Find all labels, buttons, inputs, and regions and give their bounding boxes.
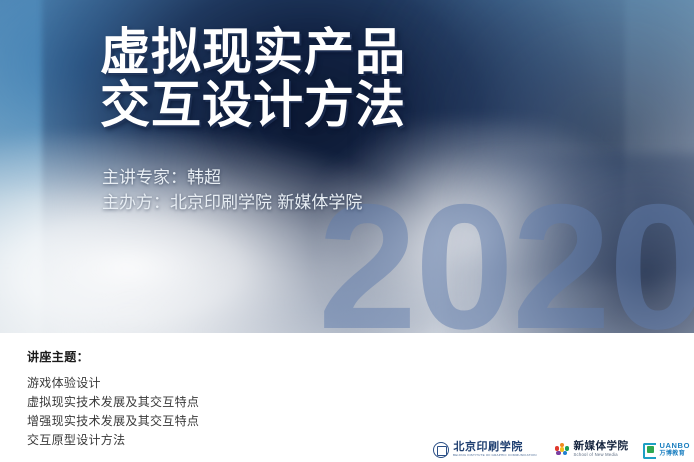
colored-petals-icon: [555, 443, 570, 457]
list-item: 游戏体验设计: [27, 374, 199, 393]
logo-school-of-new-media: 新媒体学院 School of New Media: [555, 441, 629, 458]
title-line-1: 虚拟现实产品: [100, 26, 406, 79]
list-item: 增强现实技术发展及其交互特点: [27, 412, 199, 431]
university-seal-icon: [433, 442, 449, 458]
logo-bigc-text: 北京印刷学院 BEIJING INSTITUTE OF GRAPHIC COMM…: [453, 441, 540, 458]
organizer-line: 主办方：北京印刷学院 新媒体学院: [102, 191, 362, 216]
logo-uanbo-name: UANBO: [660, 442, 691, 450]
list-item: 交互原型设计方法: [27, 431, 199, 450]
logo-bigc-en: BEIJING INSTITUTE OF GRAPHIC COMMUNICATI…: [453, 453, 537, 458]
logo-new-media-text: 新媒体学院 School of New Media: [574, 441, 629, 458]
poster-title: 虚拟现实产品 交互设计方法: [100, 26, 406, 132]
lecture-poster: 2020 虚拟现实产品 交互设计方法 主讲专家：韩超 主办方：北京印刷学院 新媒…: [0, 0, 694, 462]
logo-uanbo-text: UANBO 万博教育: [660, 442, 691, 458]
logo-bar: 北京印刷学院 BEIJING INSTITUTE OF GRAPHIC COMM…: [433, 441, 690, 458]
poster-banner: 2020 虚拟现实产品 交互设计方法 主讲专家：韩超 主办方：北京印刷学院 新媒…: [0, 0, 694, 333]
bracket-square-icon: [643, 443, 656, 457]
speaker-line: 主讲专家：韩超: [102, 166, 362, 191]
year-watermark: 2020: [318, 178, 694, 333]
logo-bigc: 北京印刷学院 BEIJING INSTITUTE OF GRAPHIC COMM…: [433, 441, 540, 458]
logo-bigc-cn: 北京印刷学院: [453, 441, 540, 453]
poster-subtitle: 主讲专家：韩超 主办方：北京印刷学院 新媒体学院: [102, 166, 362, 216]
topics-list: 游戏体验设计 虚拟现实技术发展及其交互特点 增强现实技术发展及其交互特点 交互原…: [27, 374, 199, 450]
logo-new-media-cn: 新媒体学院: [574, 441, 629, 452]
topics-heading: 讲座主题：: [27, 348, 89, 365]
logo-uanbo: UANBO 万博教育: [643, 442, 691, 458]
list-item: 虚拟现实技术发展及其交互特点: [27, 393, 199, 412]
poster-footer-section: 讲座主题： 游戏体验设计 虚拟现实技术发展及其交互特点 增强现实技术发展及其交互…: [0, 333, 694, 462]
logo-uanbo-sub: 万博教育: [660, 450, 691, 458]
title-line-2: 交互设计方法: [100, 79, 406, 132]
logo-new-media-en: School of New Media: [574, 452, 629, 458]
